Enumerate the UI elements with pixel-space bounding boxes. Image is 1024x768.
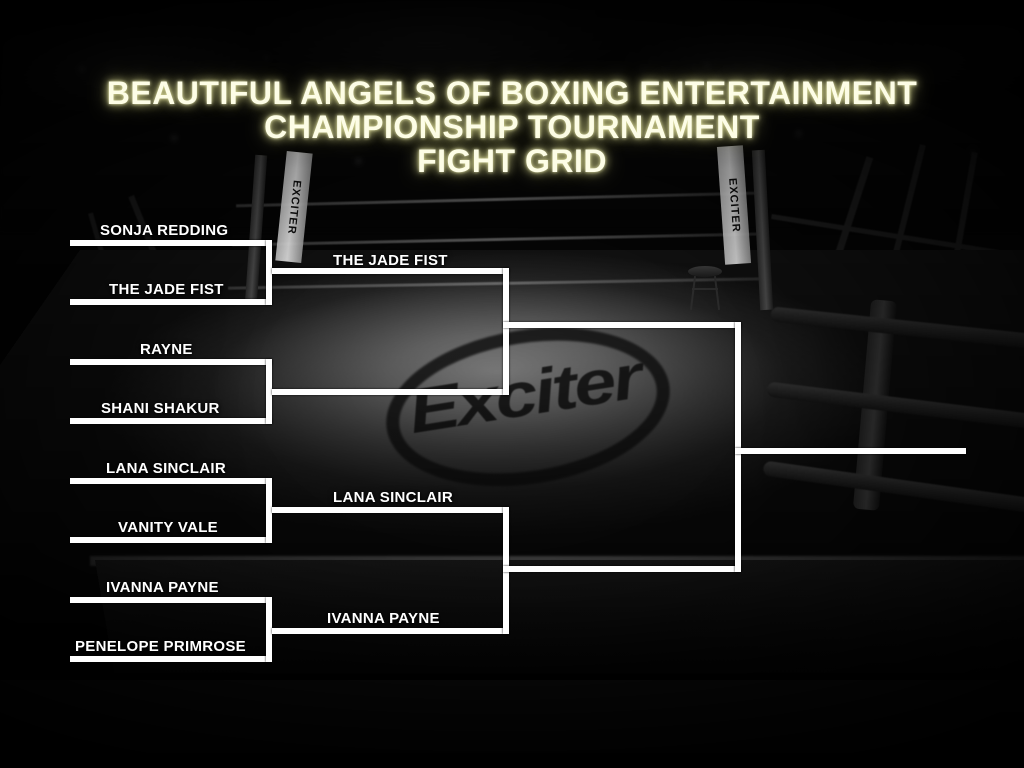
bracket-connector-sf1 [503,268,509,395]
bracket-line-qf3-top [70,478,272,484]
competitor-name-the-jade-fist: THE JADE FIST [109,281,224,298]
competitor-name-ivanna-payne: IVANNA PAYNE [106,579,219,596]
semifinal-2-bottom-label: IVANNA PAYNE [327,610,440,627]
bracket-line-qf2-bottom [70,418,272,424]
bracket-line-sf2-top [272,507,509,513]
semifinal-1-winner-label: THE JADE FIST [333,252,448,269]
bracket-line-qf2-top [70,359,272,365]
bracket-connector-final [735,322,741,572]
title-line-3: FIGHT GRID [0,144,1024,178]
bracket-line-qf3-bottom [70,537,272,543]
bracket-line-sf1-bottom [272,389,509,395]
competitor-name-sonja-redding: SONJA REDDING [100,222,228,239]
bracket-line-champion [735,448,966,454]
bracket-line-qf4-bottom [70,656,272,662]
competitor-name-shani-shakur: SHANI SHAKUR [101,400,220,417]
competitor-name-penelope-primrose: PENELOPE PRIMROSE [75,638,246,655]
bracket-line-final-bottom [503,566,741,572]
title-line-2: CHAMPIONSHIP TOURNAMENT [0,110,1024,144]
bracket-line-qf1-bottom [70,299,272,305]
bracket-line-final-top [503,322,741,328]
bracket-line-sf2-bottom [272,628,509,634]
fight-grid-poster: Exciter EXCITER EXCITER BEAUTIFUL ANGELS… [0,0,1024,768]
title-line-1: BEAUTIFUL ANGELS OF BOXING ENTERTAINMENT [0,76,1024,110]
bracket-line-qf4-top [70,597,272,603]
semifinal-2-top-label: LANA SINCLAIR [333,489,453,506]
competitor-name-lana-sinclair: LANA SINCLAIR [106,460,226,477]
bracket-line-qf1-top [70,240,272,246]
poster-title: BEAUTIFUL ANGELS OF BOXING ENTERTAINMENT… [0,76,1024,178]
bracket-line-sf1-top [272,268,509,274]
competitor-name-vanity-vale: VANITY VALE [118,519,218,536]
competitor-name-rayne: RAYNE [140,341,193,358]
